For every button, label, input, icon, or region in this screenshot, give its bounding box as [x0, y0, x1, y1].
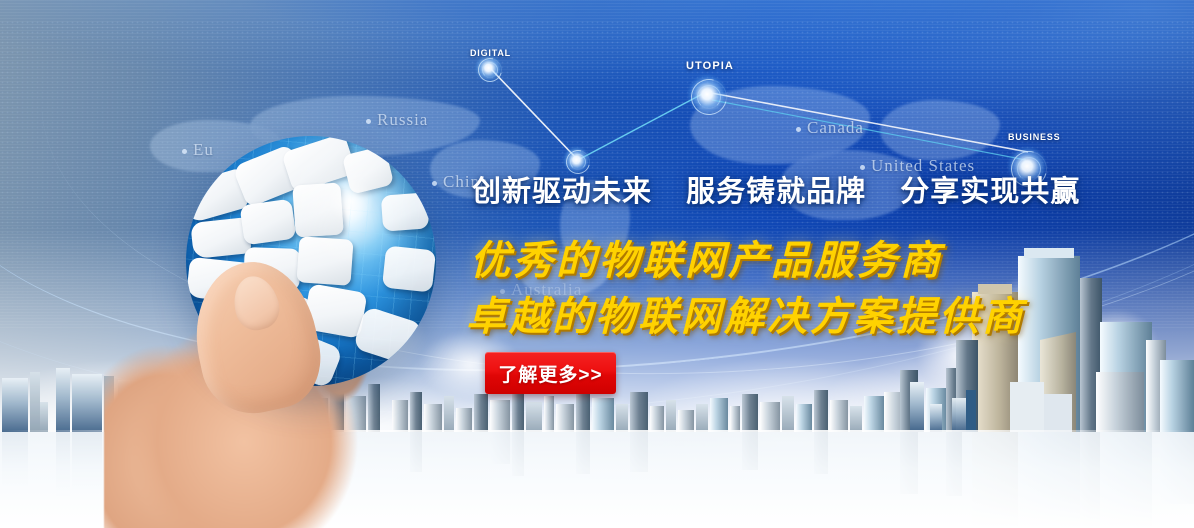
- map-label-europe: Eu: [182, 140, 214, 160]
- network-node-icon-utopia[interactable]: [686, 74, 730, 118]
- banner-headline-line-2: 卓越的物联网解决方案提供商: [466, 284, 1025, 342]
- network-node-label-utopia: UTOPIA: [686, 60, 734, 72]
- network-node-label-business: BUSINESS: [1008, 132, 1060, 142]
- network-link-graph: [0, 0, 1194, 260]
- map-label-canada: Canada: [796, 118, 864, 138]
- cloud-icon-right: [905, 250, 1194, 440]
- tagline-part-3: 分享实现共赢: [900, 176, 1080, 208]
- network-node-icon-digital[interactable]: [474, 54, 504, 84]
- tagline-part-1: 创新驱动未来: [472, 176, 652, 208]
- tagline-part-2: 服务铸就品牌: [686, 176, 866, 208]
- banner-tagline: 创新驱动未来 服务铸就品牌 分享实现共赢: [472, 168, 1080, 210]
- map-label-russia: Russia: [366, 110, 428, 130]
- hero-banner: DIGITAL UTOPIA BUSINESS Eu Russia China …: [0, 0, 1194, 528]
- banner-headline-line-1: 优秀的物联网产品服务商: [470, 228, 943, 286]
- learn-more-button[interactable]: 了解更多>>: [485, 352, 616, 394]
- network-node-label-digital: DIGITAL: [470, 48, 511, 58]
